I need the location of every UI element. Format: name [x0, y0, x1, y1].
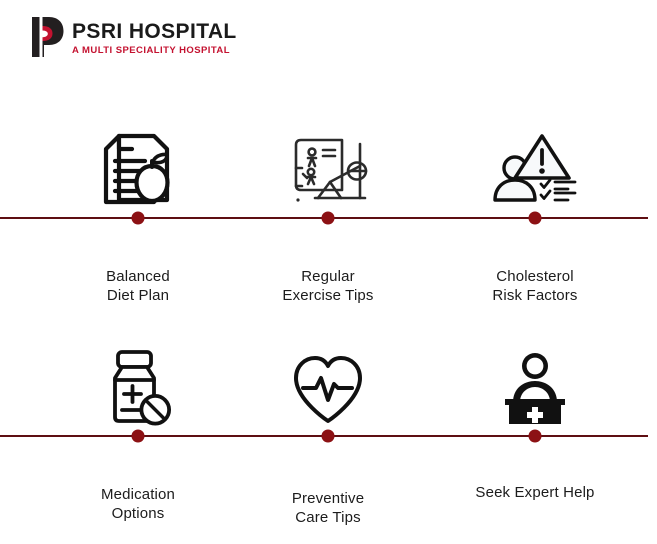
item-label: Seek Expert Help — [435, 484, 635, 503]
item-cholesterol-risk-factors[interactable]: Cholesterol Risk Factors — [435, 122, 635, 306]
brand-tagline: A MULTI SPECIALITY HOSPITAL — [72, 46, 237, 56]
brand-text: PSRI HOSPITAL A MULTI SPECIALITY HOSPITA… — [72, 21, 237, 56]
doctor-medical-bag-icon — [435, 340, 635, 426]
item-label: Preventive Care Tips — [228, 490, 428, 528]
item-medication-options[interactable]: Medication Options — [38, 340, 238, 524]
item-seek-expert-help[interactable]: Seek Expert Help — [435, 340, 635, 503]
brand-title: PSRI HOSPITAL — [72, 21, 237, 42]
item-label: Balanced Diet Plan — [38, 268, 238, 306]
diet-plan-document-apple-icon — [38, 122, 238, 208]
psri-p-monogram-icon — [22, 14, 66, 60]
infographic-page: PSRI HOSPITAL A MULTI SPECIALITY HOSPITA… — [0, 0, 657, 544]
cholesterol-risk-warning-icon — [435, 122, 635, 208]
medication-bottle-capsule-icon — [38, 340, 238, 426]
item-preventive-care-tips[interactable]: Preventive Care Tips — [228, 340, 428, 528]
item-regular-exercise-tips[interactable]: Regular Exercise Tips — [228, 122, 428, 306]
item-label: Cholesterol Risk Factors — [435, 268, 635, 306]
item-label: Regular Exercise Tips — [228, 268, 428, 306]
item-balanced-diet-plan[interactable]: Balanced Diet Plan — [38, 122, 238, 306]
brand-logo: PSRI HOSPITAL A MULTI SPECIALITY HOSPITA… — [22, 14, 237, 60]
heart-pulse-icon — [228, 340, 428, 426]
item-label: Medication Options — [38, 486, 238, 524]
exercise-stretching-person-icon — [228, 122, 428, 208]
